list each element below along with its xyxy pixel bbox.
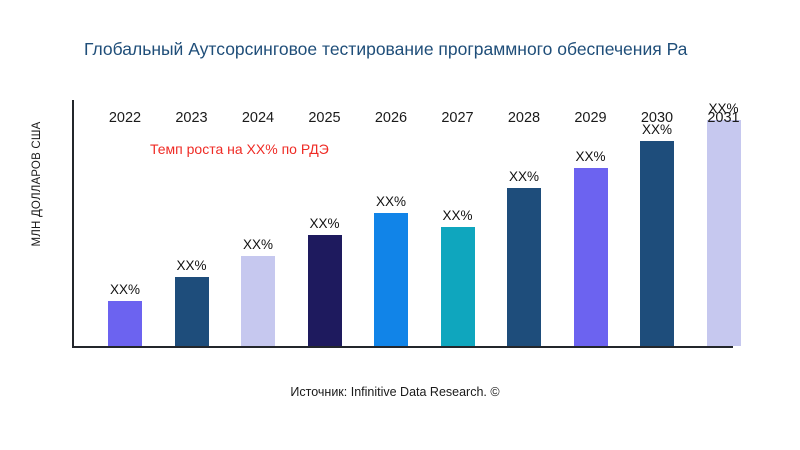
- bar-2024[interactable]: [241, 256, 275, 346]
- x-tick-label-2031: 2031: [682, 110, 766, 126]
- bar-2022[interactable]: [108, 301, 142, 346]
- bar-value-label-2027: XX%: [423, 208, 493, 223]
- bar-value-label-2026: XX%: [356, 194, 426, 209]
- bar-value-label-2028: XX%: [489, 169, 559, 184]
- bar-2030[interactable]: [640, 141, 674, 346]
- bar-value-label-2029: XX%: [556, 149, 626, 164]
- bar-2027[interactable]: [441, 227, 475, 346]
- bar-group: XX%2028: [507, 98, 541, 346]
- x-axis-line: [72, 346, 733, 348]
- bar-2026[interactable]: [374, 213, 408, 346]
- source-note: Источник: Infinitive Data Research. ©: [0, 385, 790, 399]
- chart-figure: Глобальный Аутсорсинговое тестирование п…: [0, 0, 800, 450]
- bar-group: XX%2030: [640, 98, 674, 346]
- y-axis-label: МЛН ДОЛЛАРОВ США: [31, 69, 43, 299]
- bar-group: XX%2026: [374, 98, 408, 346]
- bar-group: XX%2025: [308, 98, 342, 346]
- bar-2023[interactable]: [175, 277, 209, 346]
- bar-group: XX%2022: [108, 98, 142, 346]
- bar-value-label-2022: XX%: [90, 282, 160, 297]
- bar-value-label-2025: XX%: [290, 216, 360, 231]
- chart-title: Глобальный Аутсорсинговое тестирование п…: [84, 36, 800, 62]
- bar-2025[interactable]: [308, 235, 342, 346]
- plot-area: XX%2022XX%2023XX%2024XX%2025XX%2026XX%20…: [72, 100, 733, 348]
- bar-group: XX%2024: [241, 98, 275, 346]
- y-axis-line: [72, 100, 74, 348]
- bar-group: XX%2023: [175, 98, 209, 346]
- bar-group: XX%2027: [441, 98, 475, 346]
- bar-2028[interactable]: [507, 188, 541, 346]
- bar-value-label-2023: XX%: [157, 258, 227, 273]
- bar-group: XX%2029: [574, 98, 608, 346]
- bar-2031[interactable]: [707, 120, 741, 346]
- bar-2029[interactable]: [574, 168, 608, 346]
- bar-group: XX%2031: [707, 98, 741, 346]
- bar-value-label-2024: XX%: [223, 237, 293, 252]
